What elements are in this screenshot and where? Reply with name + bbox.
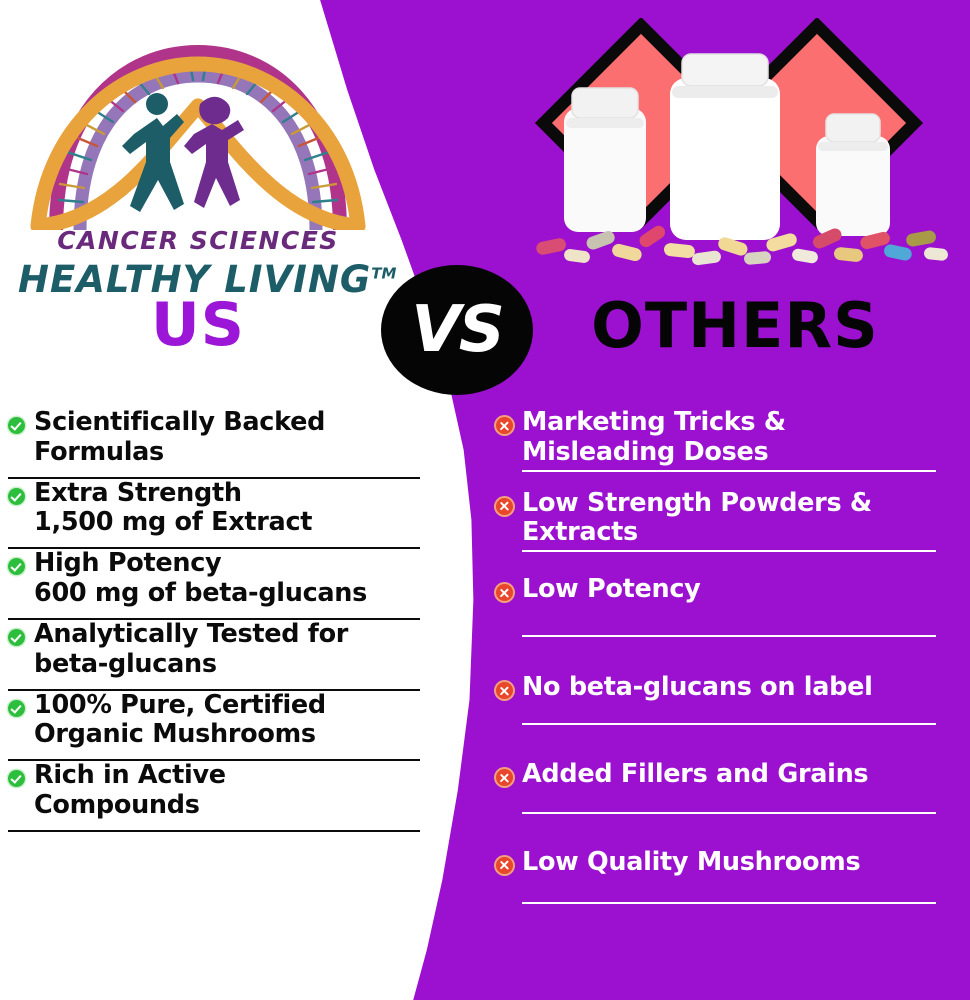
- list-item: High Potency 600 mg of beta-glucans: [8, 549, 420, 620]
- list-item-line-1: Low Quality Mushrooms: [522, 848, 936, 878]
- list-item: Rich in Active Compounds: [8, 761, 420, 832]
- list-item-line-1: Scientifically Backed: [34, 408, 420, 438]
- list-item-line-2: Extracts: [522, 518, 936, 548]
- list-item-line-1: Extra Strength: [34, 479, 420, 509]
- divider: [522, 550, 936, 552]
- cross-circle-icon: [496, 584, 513, 601]
- us-heading: US: [18, 295, 378, 355]
- list-item: Scientifically Backed Formulas: [8, 408, 420, 479]
- list-item: Low Potency: [496, 575, 936, 637]
- list-item-line-1: High Potency: [34, 549, 420, 579]
- check-circle-icon: [8, 770, 25, 787]
- check-circle-icon: [8, 558, 25, 575]
- list-item-line-2: 1,500 mg of Extract: [34, 508, 420, 538]
- check-circle-icon: [8, 629, 25, 646]
- list-item: Low Strength Powders & Extracts: [496, 489, 936, 553]
- cross-circle-icon: [496, 857, 513, 874]
- list-item-line-2: Formulas: [34, 438, 420, 468]
- list-item-line-1: Low Strength Powders &: [522, 489, 936, 519]
- brand-line-1: CANCER SCIENCES: [18, 226, 378, 255]
- list-item: Extra Strength 1,500 mg of Extract: [8, 479, 420, 550]
- list-item-line-1: Low Potency: [522, 575, 936, 605]
- list-item-line-2: Misleading Doses: [522, 438, 936, 468]
- list-item-line-1: Analytically Tested for: [34, 620, 420, 650]
- two-figures-icon: [122, 93, 244, 212]
- list-item-line-1: Rich in Active: [34, 761, 420, 791]
- cross-circle-icon: [496, 682, 513, 699]
- check-circle-icon: [8, 417, 25, 434]
- vs-label: VS: [411, 298, 503, 362]
- list-item: Added Fillers and Grains: [496, 760, 936, 814]
- divider: [522, 723, 936, 725]
- others-drawbacks-list: Marketing Tricks & Misleading Doses Low …: [496, 408, 936, 904]
- list-item: 100% Pure, Certified Organic Mushrooms: [8, 691, 420, 762]
- list-item-line-1: No beta-glucans on label: [522, 673, 936, 703]
- list-item: Marketing Tricks & Misleading Doses: [496, 408, 936, 472]
- list-item-line-2: beta-glucans: [34, 650, 420, 680]
- cross-circle-icon: [496, 498, 513, 515]
- check-circle-icon: [8, 700, 25, 717]
- list-item-line-1: Marketing Tricks &: [522, 408, 936, 438]
- list-item: No beta-glucans on label: [496, 673, 936, 725]
- list-item-line-2: Organic Mushrooms: [34, 720, 420, 750]
- supplement-bottles-icon: [520, 18, 950, 288]
- list-item-line-1: Added Fillers and Grains: [522, 760, 936, 790]
- cross-circle-icon: [496, 769, 513, 786]
- brand-logo: CANCER SCIENCES HEALTHY LIVINGTM: [18, 30, 378, 290]
- trademark-mark: TM: [371, 265, 396, 283]
- list-item: Analytically Tested for beta-glucans: [8, 620, 420, 691]
- divider: [522, 470, 936, 472]
- cross-circle-icon: [496, 417, 513, 434]
- divider: [522, 812, 936, 814]
- others-heading: OTHERS: [520, 295, 950, 357]
- list-item-line-2: Compounds: [34, 791, 420, 821]
- divider: [522, 902, 936, 904]
- comparison-infographic: CANCER SCIENCES HEALTHY LIVINGTM US VS: [0, 0, 970, 1000]
- divider: [8, 830, 420, 832]
- list-item-line-2: 600 mg of beta-glucans: [34, 579, 420, 609]
- list-item-line-1: 100% Pure, Certified: [34, 691, 420, 721]
- vs-badge: VS: [381, 265, 533, 395]
- list-item: Low Quality Mushrooms: [496, 848, 936, 904]
- us-benefits-list: Scientifically Backed Formulas Extra Str…: [8, 408, 420, 832]
- divider: [522, 635, 936, 637]
- check-circle-icon: [8, 488, 25, 505]
- dna-helix-arch-icon: [18, 30, 378, 230]
